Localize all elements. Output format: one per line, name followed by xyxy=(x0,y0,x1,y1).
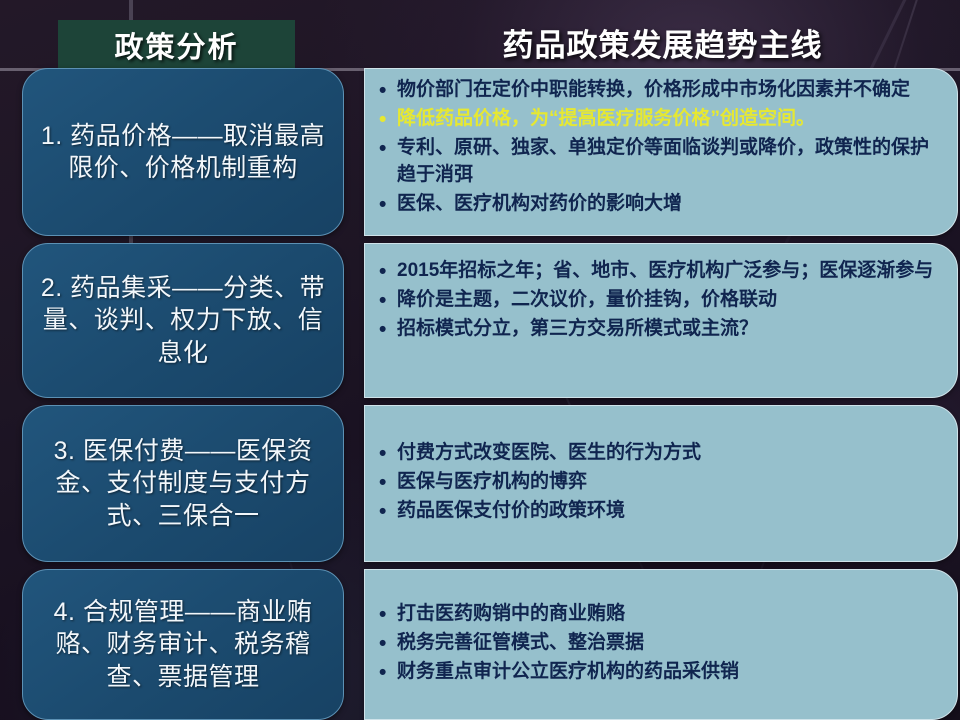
list-item: 专利、原研、独家、单独定价等面临谈判或降价，政策性的保护趋于消弭 xyxy=(375,135,941,189)
topic-card-1[interactable]: 1. 药品价格——取消最高限价、价格机制重构 xyxy=(22,68,344,236)
list-item: 降价是主题，二次议价，量价挂钩，价格联动 xyxy=(375,287,941,314)
content-row: 2. 药品集采——分类、带量、谈判、权力下放、信息化 2015年招标之年；省、地… xyxy=(0,243,960,398)
topic-card-3-label: 3. 医保付费——医保资金、支付制度与支付方式、三保合一 xyxy=(33,435,333,533)
detail-bullet-list-4: 打击医药购销中的商业贿赂 税务完善征管模式、整治票据 财务重点审计公立医疗机构的… xyxy=(375,601,941,688)
section-title-badge: 政策分析 xyxy=(58,20,295,70)
detail-card-4: 打击医药购销中的商业贿赂 税务完善征管模式、整治票据 财务重点审计公立医疗机构的… xyxy=(364,569,958,720)
list-item: 付费方式改变医院、医生的行为方式 xyxy=(375,440,941,467)
detail-bullet-list-1: 物价部门在定价中职能转换，价格形成中市场化因素并不确定 降低药品价格，为“提高医… xyxy=(375,77,941,220)
slide-canvas: 政策分析 药品政策发展趋势主线 1. 药品价格——取消最高限价、价格机制重构 物… xyxy=(0,0,960,720)
detail-bullet-list-2: 2015年招标之年；省、地市、医疗机构广泛参与；医保逐渐参与 降价是主题，二次议… xyxy=(375,258,941,345)
topic-card-2[interactable]: 2. 药品集采——分类、带量、谈判、权力下放、信息化 xyxy=(22,243,344,398)
topic-card-1-label: 1. 药品价格——取消最高限价、价格机制重构 xyxy=(33,120,333,185)
detail-card-2: 2015年招标之年；省、地市、医疗机构广泛参与；医保逐渐参与 降价是主题，二次议… xyxy=(364,243,958,398)
slide-title-text: 药品政策发展趋势主线 xyxy=(503,20,823,65)
list-item: 招标模式分立，第三方交易所模式或主流？ xyxy=(375,316,941,343)
list-item: 税务完善征管模式、整治票据 xyxy=(375,630,941,657)
detail-card-3: 付费方式改变医院、医生的行为方式 医保与医疗机构的博弈 药品医保支付价的政策环境 xyxy=(364,405,958,562)
topic-card-4[interactable]: 4. 合规管理——商业贿赂、财务审计、税务稽查、票据管理 xyxy=(22,569,344,720)
list-item: 药品医保支付价的政策环境 xyxy=(375,498,941,525)
section-title-text: 政策分析 xyxy=(114,24,238,66)
slide-title: 药品政策发展趋势主线 xyxy=(365,16,960,68)
list-item-highlighted: 降低药品价格，为“提高医疗服务价格”创造空间。 xyxy=(375,106,941,133)
content-row: 4. 合规管理——商业贿赂、财务审计、税务稽查、票据管理 打击医药购销中的商业贿… xyxy=(0,569,960,720)
topic-card-2-label: 2. 药品集采——分类、带量、谈判、权力下放、信息化 xyxy=(33,272,333,370)
topic-card-3[interactable]: 3. 医保付费——医保资金、支付制度与支付方式、三保合一 xyxy=(22,405,344,562)
list-item: 物价部门在定价中职能转换，价格形成中市场化因素并不确定 xyxy=(375,77,941,104)
list-item: 医保、医疗机构对药价的影响大增 xyxy=(375,191,941,218)
list-item: 2015年招标之年；省、地市、医疗机构广泛参与；医保逐渐参与 xyxy=(375,258,941,285)
list-item: 财务重点审计公立医疗机构的药品采供销 xyxy=(375,659,941,686)
content-row: 1. 药品价格——取消最高限价、价格机制重构 物价部门在定价中职能转换，价格形成… xyxy=(0,68,960,236)
detail-card-1: 物价部门在定价中职能转换，价格形成中市场化因素并不确定 降低药品价格，为“提高医… xyxy=(364,68,958,236)
topic-card-4-label: 4. 合规管理——商业贿赂、财务审计、税务稽查、票据管理 xyxy=(33,596,333,694)
list-item: 打击医药购销中的商业贿赂 xyxy=(375,601,941,628)
list-item: 医保与医疗机构的博弈 xyxy=(375,469,941,496)
detail-bullet-list-3: 付费方式改变医院、医生的行为方式 医保与医疗机构的博弈 药品医保支付价的政策环境 xyxy=(375,440,941,527)
content-row: 3. 医保付费——医保资金、支付制度与支付方式、三保合一 付费方式改变医院、医生… xyxy=(0,405,960,562)
